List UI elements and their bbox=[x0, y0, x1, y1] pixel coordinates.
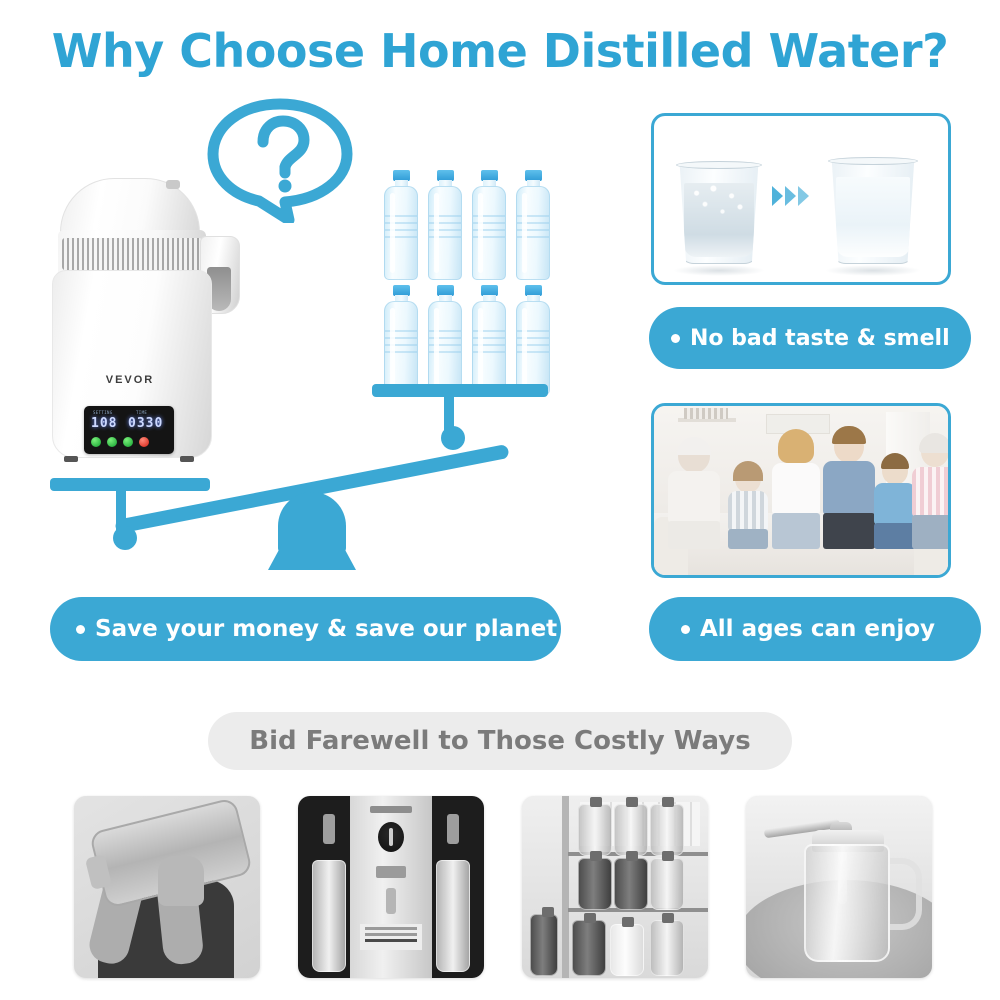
person-father bbox=[822, 431, 876, 549]
caption-all-ages-label: All ages can enjoy bbox=[700, 616, 935, 642]
water-bottle bbox=[514, 170, 552, 280]
bottom-banner: Bid Farewell to Those Costly Ways bbox=[208, 712, 792, 770]
person-girl bbox=[726, 457, 770, 549]
bottle-row-top bbox=[382, 170, 558, 280]
water-bottle bbox=[426, 170, 464, 280]
family-on-couch-photo bbox=[654, 406, 948, 575]
photo-tap-filling-filter-pitcher bbox=[746, 796, 932, 978]
distiller-brand-logo: VEVOR bbox=[48, 374, 212, 386]
water-bottle bbox=[382, 285, 420, 395]
infographic-root: Why Choose Home Distilled Water? VEVOR S… bbox=[0, 0, 1000, 1000]
caption-no-bad-taste: No bad taste & smell bbox=[649, 307, 971, 369]
triple-chevron-right-icon bbox=[772, 186, 809, 206]
person-grandfather bbox=[666, 439, 722, 549]
distiller-lid-knob-icon bbox=[166, 180, 180, 189]
person-mother bbox=[770, 433, 822, 549]
caption-save-money: Save your money & save our planet bbox=[50, 597, 561, 661]
water-bottle bbox=[514, 285, 552, 395]
page-title: Why Choose Home Distilled Water? bbox=[0, 24, 1000, 78]
water-bottle bbox=[470, 170, 508, 280]
seesaw-plate-right bbox=[372, 384, 548, 397]
caption-all-ages: All ages can enjoy bbox=[649, 597, 981, 661]
bullet-dot-icon bbox=[681, 625, 690, 634]
water-bottle bbox=[426, 285, 464, 395]
photo-water-vending-machine bbox=[298, 796, 484, 978]
cloudy-water-glass bbox=[678, 164, 760, 264]
photo-man-carrying-water-jug bbox=[74, 796, 260, 978]
person-grandmother bbox=[910, 437, 951, 549]
seesaw-balance bbox=[40, 400, 580, 580]
seesaw-plate-left bbox=[50, 478, 210, 491]
water-bottle bbox=[382, 170, 420, 280]
clear-water-glass bbox=[830, 160, 916, 264]
caption-no-bad-taste-label: No bad taste & smell bbox=[690, 326, 950, 351]
bullet-dot-icon bbox=[671, 334, 680, 343]
seesaw-fulcrum bbox=[268, 492, 356, 570]
bullet-dot-icon bbox=[76, 625, 85, 634]
caption-save-money-label: Save your money & save our planet bbox=[95, 616, 557, 642]
family-photo-panel bbox=[651, 403, 951, 578]
photo-stacked-water-jugs bbox=[522, 796, 708, 978]
vent-slats bbox=[62, 238, 202, 270]
costly-ways-photo-row bbox=[0, 796, 1000, 982]
glass-comparison-panel bbox=[651, 113, 951, 285]
bottle-row-bottom bbox=[382, 285, 558, 395]
water-bottle bbox=[470, 285, 508, 395]
plastic-bottle-stack bbox=[382, 170, 558, 398]
